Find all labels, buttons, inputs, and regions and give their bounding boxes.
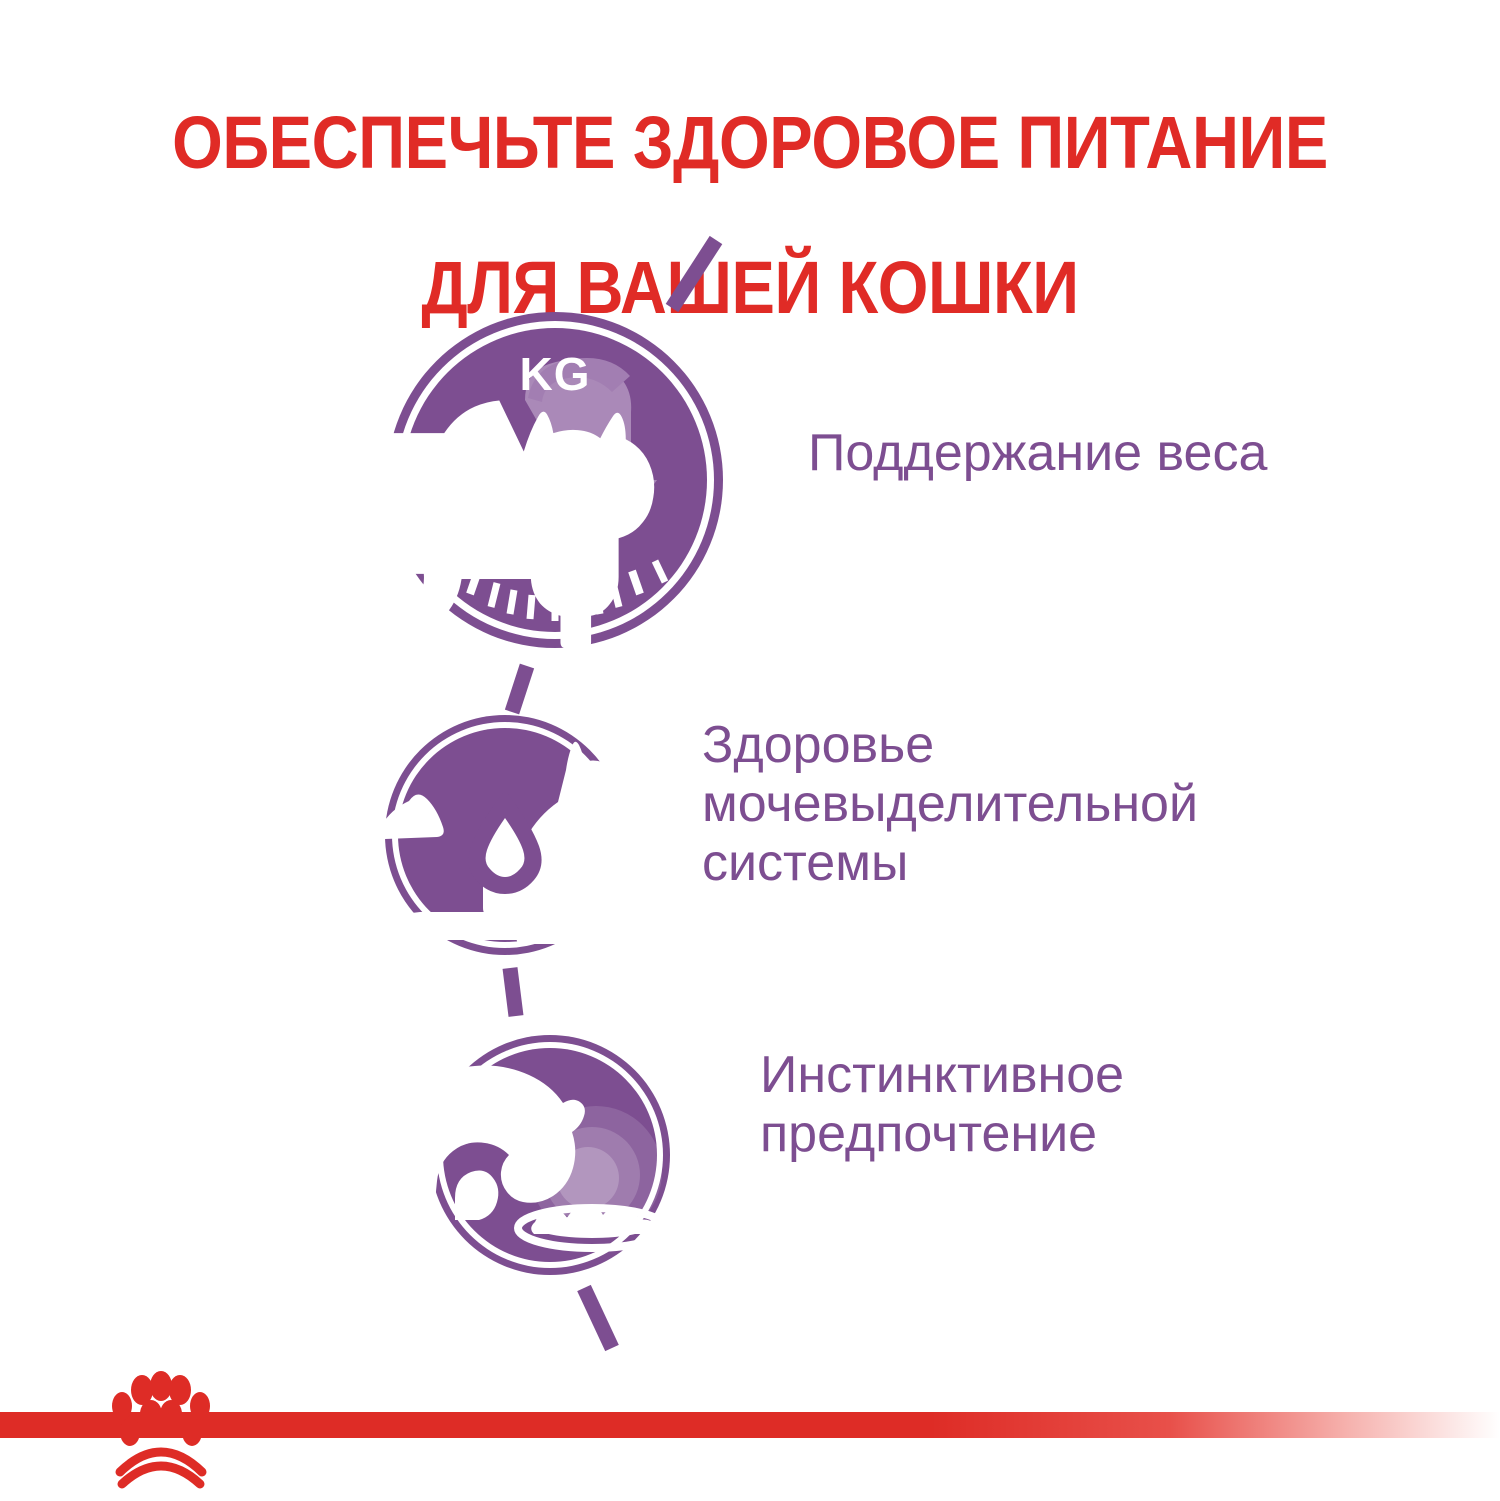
feature-label-weight-maintenance: Поддержание веса: [808, 424, 1267, 483]
connector-dash-2-3: [510, 968, 516, 1016]
crown-arcs: [120, 1452, 202, 1484]
icon-1-kg-label: KG: [520, 348, 591, 400]
brand-bar: [0, 1412, 1500, 1438]
connector-dash-top: [672, 240, 716, 308]
feature-icon-instinctive-preference[interactable]: [325, 1035, 670, 1275]
royal-canin-crown-logo: [98, 1368, 224, 1496]
feature-label-instinctive-preference: Инстинктивное предпочтение: [760, 1046, 1124, 1164]
connector-dash-1-2: [512, 666, 527, 712]
feature-icon-weight-maintenance[interactable]: KG: [202, 312, 723, 648]
connector-dash-bottom: [584, 1288, 612, 1348]
feature-label-urinary-health: Здоровье мочевыделительной системы: [702, 716, 1198, 892]
feature-icon-urinary-health[interactable]: [378, 715, 650, 955]
walking-cat-silhouette: [202, 401, 654, 649]
crown-dots: [112, 1371, 210, 1446]
